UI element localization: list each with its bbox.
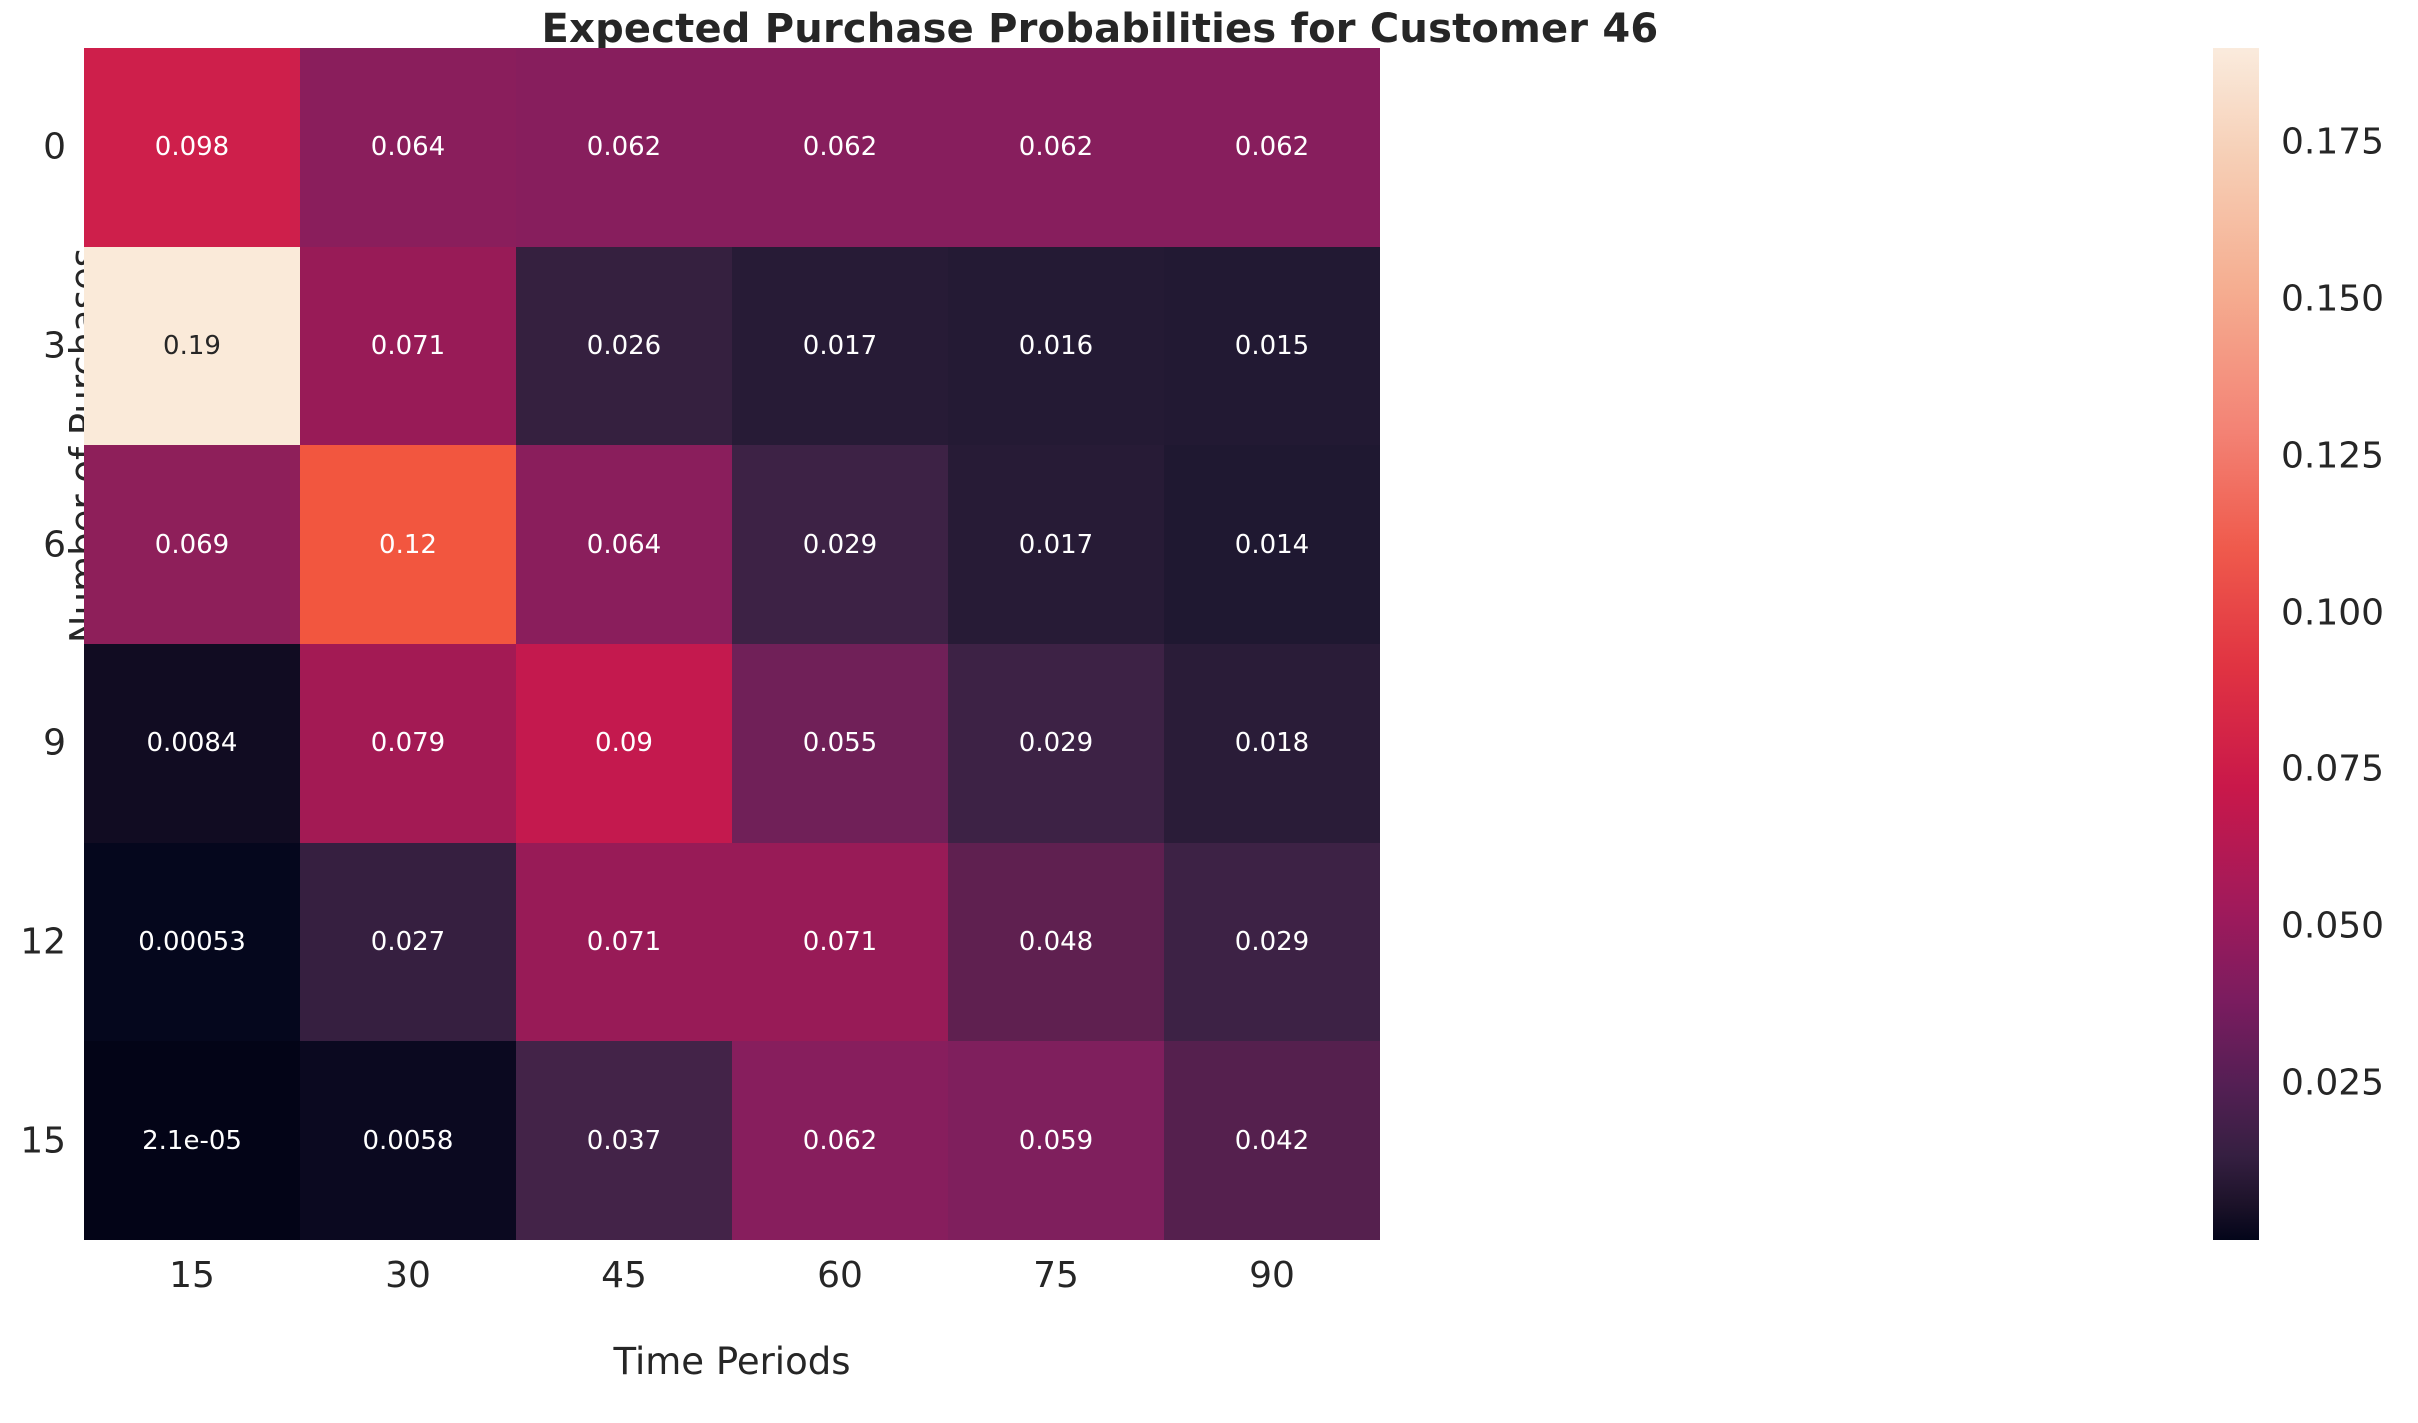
heatmap-cell[interactable]: 0.029 (948, 644, 1164, 843)
heatmap-cell-value: 0.029 (1235, 929, 1309, 955)
x-tick-45: 45 (516, 1255, 732, 1296)
heatmap-cell-value: 0.042 (1235, 1128, 1309, 1154)
heatmap-cell-value: 0.079 (371, 730, 445, 756)
heatmap-cell-value: 0.064 (371, 134, 445, 160)
heatmap-cell-value: 0.027 (371, 929, 445, 955)
heatmap-cell[interactable]: 0.071 (516, 843, 732, 1042)
y-tick-6: 6 (0, 524, 66, 565)
x-tick-90: 90 (1164, 1255, 1380, 1296)
heatmap-cell[interactable]: 0.00053 (84, 843, 300, 1042)
heatmap-cell-value: 0.059 (1019, 1128, 1093, 1154)
heatmap-cell[interactable]: 0.12 (300, 445, 516, 644)
heatmap-cell-value: 0.026 (587, 333, 661, 359)
colorbar-tick-0.125: 0.125 (2281, 435, 2384, 476)
heatmap-cell-value: 0.0084 (147, 730, 238, 756)
y-tick-0: 0 (0, 127, 66, 168)
heatmap-cell[interactable]: 2.1e-05 (84, 1041, 300, 1240)
heatmap-cell[interactable]: 0.015 (1164, 247, 1380, 446)
heatmap-cell-value: 0.069 (155, 532, 229, 558)
heatmap-cell-value: 0.071 (587, 929, 661, 955)
heatmap-cell-value: 0.071 (371, 333, 445, 359)
heatmap-cell[interactable]: 0.064 (516, 445, 732, 644)
heatmap-cell-value: 0.062 (803, 1128, 877, 1154)
heatmap-cell-value: 0.014 (1235, 532, 1309, 558)
y-tick-12: 12 (0, 922, 66, 963)
colorbar[interactable]: 0.0250.0500.0750.1000.1250.1500.175 (2213, 48, 2259, 1240)
heatmap-cell-value: 0.062 (1235, 134, 1309, 160)
heatmap-cell[interactable]: 0.018 (1164, 644, 1380, 843)
heatmap-cell-value: 0.055 (803, 730, 877, 756)
heatmap-cell[interactable]: 0.017 (948, 445, 1164, 644)
colorbar-tick-0.075: 0.075 (2281, 749, 2384, 790)
heatmap-grid[interactable]: 0.0980.0640.0620.0620.0620.0620.190.0710… (84, 48, 1380, 1240)
heatmap-cell[interactable]: 0.071 (300, 247, 516, 446)
heatmap-cell[interactable]: 0.0084 (84, 644, 300, 843)
heatmap-cell[interactable]: 0.042 (1164, 1041, 1380, 1240)
x-tick-60: 60 (732, 1255, 948, 1296)
heatmap-cell-value: 0.071 (803, 929, 877, 955)
heatmap-cell[interactable]: 0.037 (516, 1041, 732, 1240)
heatmap-cell[interactable]: 0.014 (1164, 445, 1380, 644)
y-tick-15: 15 (0, 1120, 66, 1161)
heatmap-cell-value: 0.017 (1019, 532, 1093, 558)
heatmap-cell[interactable]: 0.079 (300, 644, 516, 843)
heatmap-cell[interactable]: 0.027 (300, 843, 516, 1042)
heatmap-cell[interactable]: 0.071 (732, 843, 948, 1042)
heatmap-cell-value: 0.018 (1235, 730, 1309, 756)
heatmap-cell[interactable]: 0.062 (516, 48, 732, 247)
heatmap-cell[interactable]: 0.055 (732, 644, 948, 843)
heatmap-cell[interactable]: 0.098 (84, 48, 300, 247)
y-tick-3: 3 (0, 326, 66, 367)
heatmap-cell-value: 0.037 (587, 1128, 661, 1154)
chart-title: Expected Purchase Probabilities for Cust… (0, 6, 2200, 52)
colorbar-tick-0.050: 0.050 (2281, 906, 2384, 947)
x-tick-30: 30 (300, 1255, 516, 1296)
heatmap-cell-value: 0.029 (1019, 730, 1093, 756)
heatmap-cell-value: 0.062 (1019, 134, 1093, 160)
colorbar-tick-0.175: 0.175 (2281, 122, 2384, 163)
heatmap-cell[interactable]: 0.19 (84, 247, 300, 446)
heatmap-cell-value: 0.016 (1019, 333, 1093, 359)
heatmap-cell-value: 0.09 (595, 730, 653, 756)
heatmap-cell-value: 0.19 (163, 333, 221, 359)
heatmap-cell-value: 0.017 (803, 333, 877, 359)
heatmap-cell-value: 0.064 (587, 532, 661, 558)
heatmap-cell[interactable]: 0.064 (300, 48, 516, 247)
heatmap-cell-value: 0.12 (379, 532, 437, 558)
heatmap-cell-value: 2.1e-05 (142, 1128, 242, 1154)
heatmap-cell-value: 0.015 (1235, 333, 1309, 359)
heatmap-cell[interactable]: 0.059 (948, 1041, 1164, 1240)
colorbar-gradient (2213, 48, 2259, 1240)
heatmap-cell[interactable]: 0.069 (84, 445, 300, 644)
heatmap-cell-value: 0.048 (1019, 929, 1093, 955)
heatmap-cell[interactable]: 0.062 (948, 48, 1164, 247)
x-tick-15: 15 (84, 1255, 300, 1296)
heatmap-cell[interactable]: 0.062 (732, 48, 948, 247)
heatmap-cell-value: 0.062 (587, 134, 661, 160)
heatmap-cell[interactable]: 0.029 (732, 445, 948, 644)
y-tick-9: 9 (0, 723, 66, 764)
colorbar-tick-0.025: 0.025 (2281, 1063, 2384, 1104)
heatmap-cell[interactable]: 0.017 (732, 247, 948, 446)
heatmap-cell-value: 0.098 (155, 134, 229, 160)
heatmap-cell[interactable]: 0.062 (732, 1041, 948, 1240)
heatmap-cell-value: 0.0058 (363, 1128, 454, 1154)
heatmap-cell[interactable]: 0.0058 (300, 1041, 516, 1240)
colorbar-tick-0.100: 0.100 (2281, 592, 2384, 633)
heatmap-cell[interactable]: 0.016 (948, 247, 1164, 446)
heatmap-cell-value: 0.062 (803, 134, 877, 160)
x-axis-label: Time Periods (84, 1340, 1380, 1383)
x-tick-75: 75 (948, 1255, 1164, 1296)
heatmap-cell[interactable]: 0.048 (948, 843, 1164, 1042)
heatmap-cell[interactable]: 0.062 (1164, 48, 1380, 247)
heatmap-cell[interactable]: 0.026 (516, 247, 732, 446)
heatmap-figure: Expected Purchase Probabilities for Cust… (0, 0, 2418, 1423)
colorbar-tick-0.150: 0.150 (2281, 278, 2384, 319)
heatmap-cell[interactable]: 0.029 (1164, 843, 1380, 1042)
heatmap-cell-value: 0.029 (803, 532, 877, 558)
heatmap-cell[interactable]: 0.09 (516, 644, 732, 843)
heatmap-cell-value: 0.00053 (138, 929, 246, 955)
